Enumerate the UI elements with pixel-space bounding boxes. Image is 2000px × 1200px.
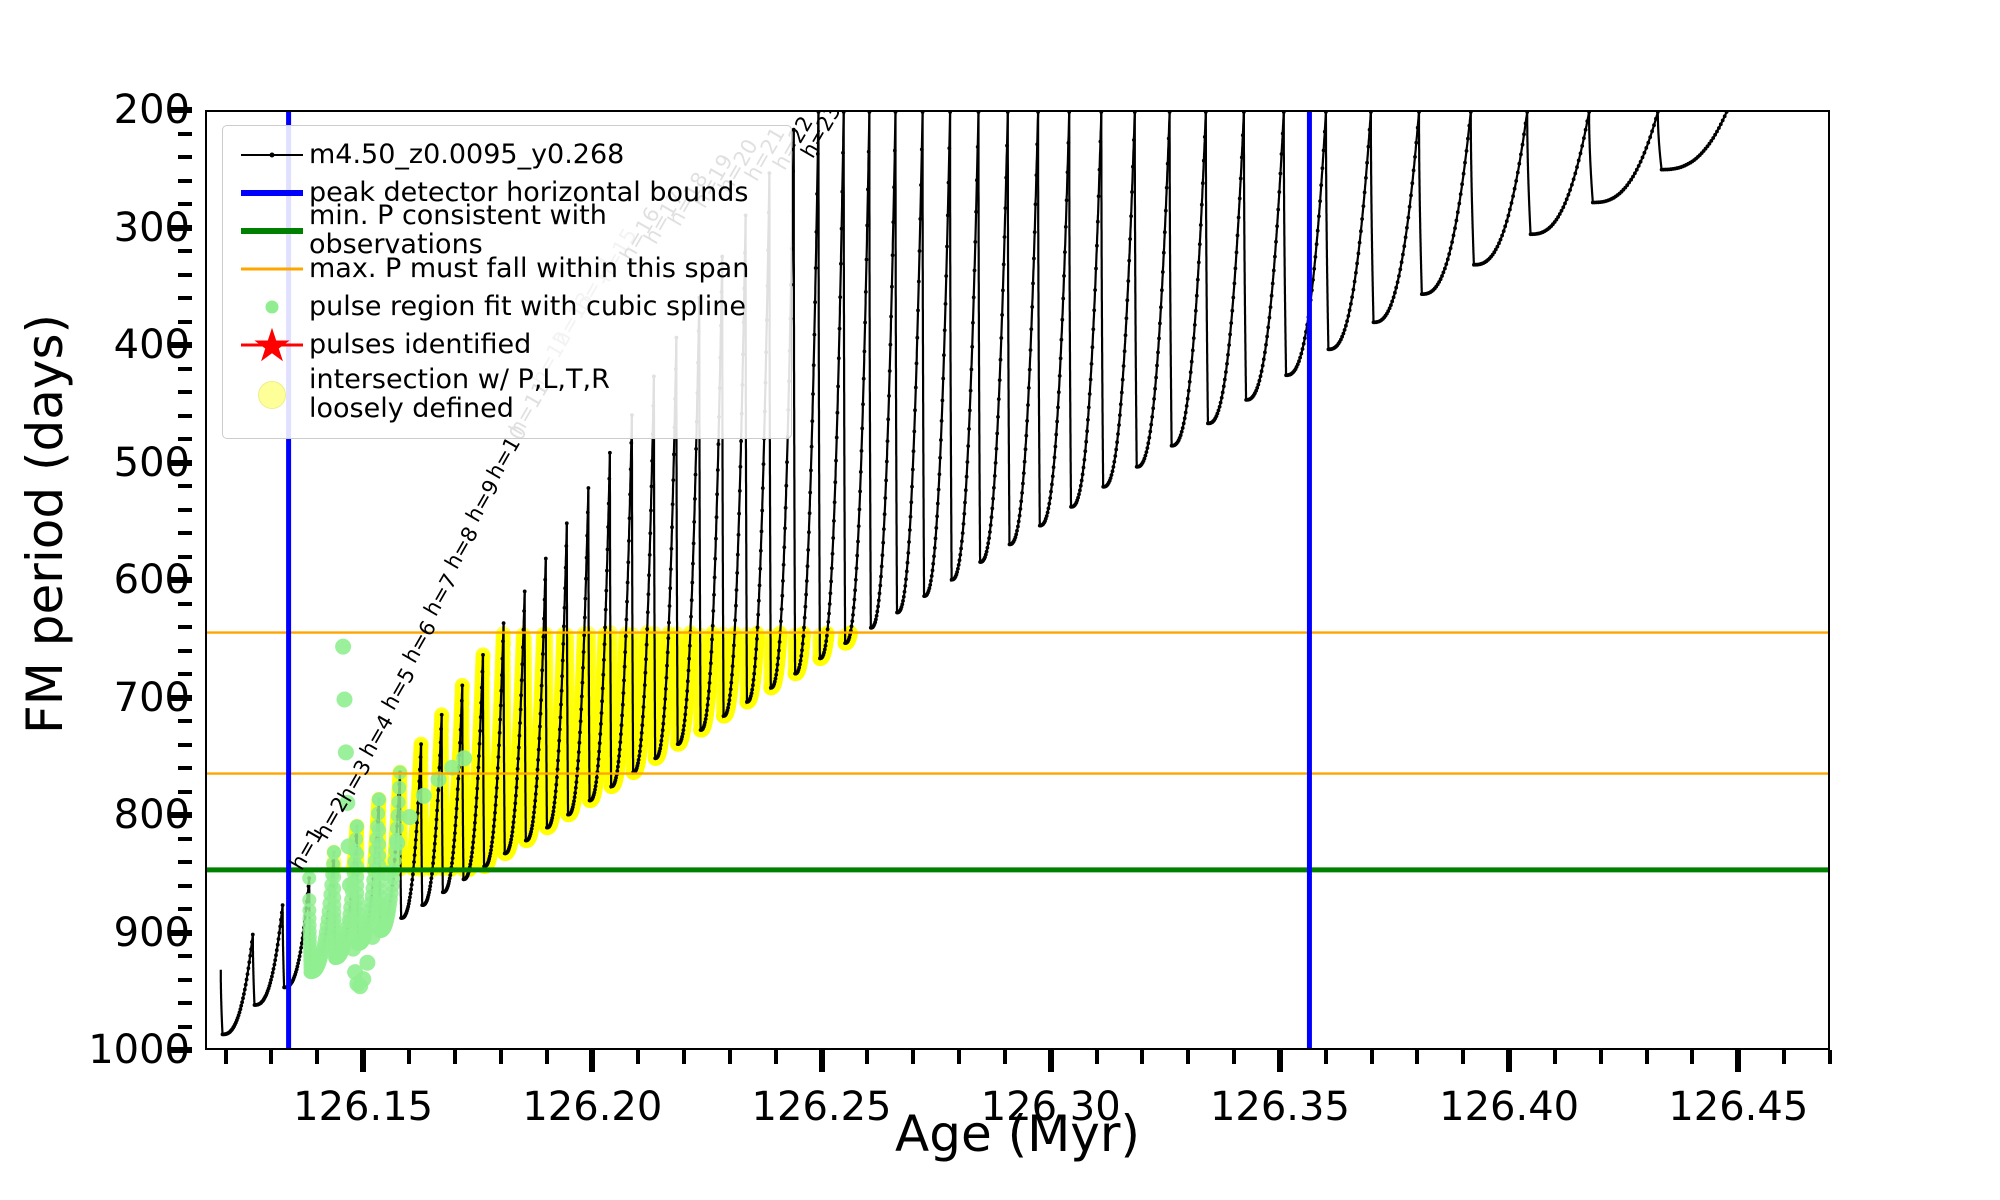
y-tick-mark-minor: [178, 390, 192, 394]
x-tick-mark-minor: [1232, 1050, 1236, 1064]
y-tick-mark-minor: [178, 719, 192, 723]
x-tick-mark: [1048, 1050, 1054, 1072]
y-tick-label: 800: [40, 792, 190, 838]
x-tick-label: 126.40: [1399, 1084, 1619, 1130]
y-tick-mark: [170, 342, 192, 348]
x-tick-mark: [1506, 1050, 1512, 1072]
y-tick-mark-minor: [178, 484, 192, 488]
y-tick-label: 700: [40, 675, 190, 721]
legend-key-red-star-icon: ★: [235, 326, 309, 364]
x-tick-mark: [589, 1050, 595, 1072]
y-tick-mark-minor: [178, 249, 192, 253]
x-tick-mark-minor: [269, 1050, 273, 1064]
legend-key-green-line-icon: [235, 212, 309, 250]
x-tick-mark: [819, 1050, 825, 1072]
x-tick-mark-minor: [1370, 1050, 1374, 1064]
y-tick-mark-minor: [178, 978, 192, 982]
y-tick-mark-minor: [178, 743, 192, 747]
x-tick-mark-minor: [1415, 1050, 1419, 1064]
x-tick-mark-minor: [1599, 1050, 1603, 1064]
y-tick-mark: [170, 930, 192, 936]
x-tick-mark-minor: [224, 1050, 228, 1064]
y-tick-mark-minor: [178, 179, 192, 183]
y-tick-mark-minor: [178, 531, 192, 535]
x-tick-mark-minor: [1645, 1050, 1649, 1064]
y-tick-mark-minor: [178, 202, 192, 206]
x-tick-label: 126.30: [941, 1084, 1161, 1130]
x-tick-mark-minor: [682, 1050, 686, 1064]
legend-item-label: intersection w/ P,L,T,R loosely defined: [309, 366, 610, 423]
legend-key-orange-line-icon: [235, 250, 309, 288]
legend-key-line-marker-icon: [235, 136, 309, 174]
legend-item: min. P consistent with observations: [235, 212, 779, 250]
x-tick-mark-minor: [1324, 1050, 1328, 1064]
legend-item-label: m4.50_z0.0095_y0.268: [309, 141, 624, 170]
y-tick-mark-minor: [178, 414, 192, 418]
x-tick-mark-minor: [911, 1050, 915, 1064]
y-tick-mark-minor: [178, 1001, 192, 1005]
y-tick-mark-minor: [178, 860, 192, 864]
x-tick-mark-minor: [1553, 1050, 1557, 1064]
y-tick-mark-minor: [178, 672, 192, 676]
x-tick-mark-minor: [1828, 1050, 1832, 1064]
x-tick-mark-minor: [1003, 1050, 1007, 1064]
x-tick-mark-minor: [315, 1050, 319, 1064]
y-tick-mark: [170, 460, 192, 466]
y-tick-label: 300: [40, 205, 190, 251]
y-tick-mark-minor: [178, 907, 192, 911]
y-tick-mark: [170, 225, 192, 231]
y-tick-mark-minor: [178, 367, 192, 371]
y-tick-mark-minor: [178, 649, 192, 653]
y-tick-mark-minor: [178, 766, 192, 770]
y-axis-ticks: 1000900800700600500400300200: [35, 110, 190, 1050]
x-tick-label: 126.20: [482, 1084, 702, 1130]
legend-item-label: max. P must fall within this span: [309, 255, 749, 284]
legend-item: max. P must fall within this span: [235, 250, 779, 288]
y-tick-mark-minor: [178, 1025, 192, 1029]
x-tick-mark-minor: [1095, 1050, 1099, 1064]
legend-item: ★pulses identified: [235, 326, 779, 364]
legend-item-label: pulse region fit with cubic spline: [309, 293, 746, 322]
legend: m4.50_z0.0095_y0.268peak detector horizo…: [222, 125, 792, 439]
legend-key-blue-line-icon: [235, 174, 309, 212]
x-tick-mark-minor: [407, 1050, 411, 1064]
x-tick-mark-minor: [636, 1050, 640, 1064]
y-tick-mark-minor: [178, 602, 192, 606]
legend-item: m4.50_z0.0095_y0.268: [235, 136, 779, 174]
x-tick-mark-minor: [499, 1050, 503, 1064]
y-tick-mark-minor: [178, 155, 192, 159]
y-tick-mark: [170, 577, 192, 583]
x-tick-mark-minor: [1186, 1050, 1190, 1064]
y-tick-mark-minor: [178, 320, 192, 324]
y-tick-label: 200: [40, 87, 190, 133]
legend-item-label: min. P consistent with observations: [309, 202, 779, 259]
x-tick-mark-minor: [1461, 1050, 1465, 1064]
y-tick-mark-minor: [178, 625, 192, 629]
x-tick-mark: [360, 1050, 366, 1072]
x-tick-label: 126.15: [253, 1084, 473, 1130]
x-tick-mark-minor: [1690, 1050, 1694, 1064]
y-tick-label: 900: [40, 910, 190, 956]
y-tick-mark-minor: [178, 273, 192, 277]
x-axis-ticks: 126.15126.20126.25126.30126.35126.40126.…: [205, 1062, 1830, 1112]
x-tick-label: 126.25: [712, 1084, 932, 1130]
y-tick-mark-minor: [178, 555, 192, 559]
figure-root: FM period (days) Age (Myr) 1000900800700…: [0, 0, 2000, 1200]
x-tick-mark-minor: [453, 1050, 457, 1064]
y-tick-mark: [170, 107, 192, 113]
x-tick-mark-minor: [1782, 1050, 1786, 1064]
y-tick-mark-minor: [178, 954, 192, 958]
x-tick-mark-minor: [957, 1050, 961, 1064]
legend-key-yellow-dot-icon: [235, 376, 309, 414]
y-tick-label: 400: [40, 322, 190, 368]
x-tick-mark-minor: [865, 1050, 869, 1064]
y-tick-mark-minor: [178, 132, 192, 136]
x-tick-label: 126.35: [1170, 1084, 1390, 1130]
x-tick-mark-minor: [728, 1050, 732, 1064]
x-tick-mark-minor: [1140, 1050, 1144, 1064]
x-tick-mark: [1277, 1050, 1283, 1072]
y-tick-mark-minor: [178, 296, 192, 300]
y-tick-mark: [170, 812, 192, 818]
y-tick-mark-minor: [178, 508, 192, 512]
legend-item: intersection w/ P,L,T,R loosely defined: [235, 364, 779, 426]
y-tick-mark-minor: [178, 437, 192, 441]
y-tick-label: 500: [40, 440, 190, 486]
x-tick-mark: [1735, 1050, 1741, 1072]
x-tick-mark-minor: [545, 1050, 549, 1064]
y-tick-label: 1000: [40, 1027, 190, 1073]
y-tick-mark-minor: [178, 884, 192, 888]
y-tick-mark-minor: [178, 790, 192, 794]
legend-item: pulse region fit with cubic spline: [235, 288, 779, 326]
y-tick-mark: [170, 695, 192, 701]
y-tick-mark: [170, 1047, 192, 1053]
x-tick-mark-minor: [774, 1050, 778, 1064]
x-tick-label: 126.45: [1628, 1084, 1848, 1130]
y-tick-label: 600: [40, 557, 190, 603]
legend-item-label: pulses identified: [309, 331, 531, 360]
y-tick-mark-minor: [178, 837, 192, 841]
